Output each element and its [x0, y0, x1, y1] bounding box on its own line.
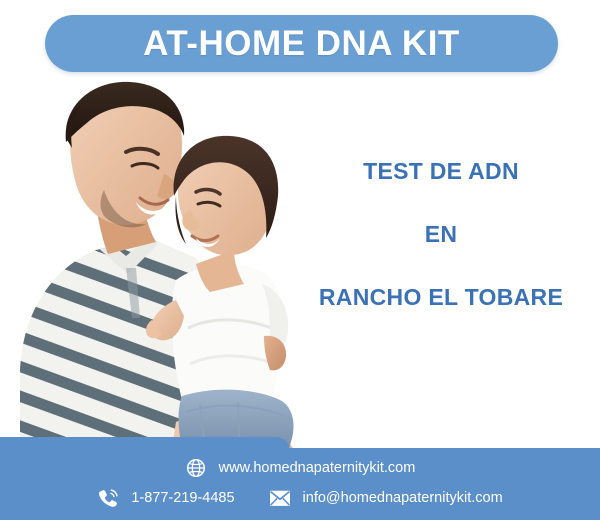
footer-row-phone-email: 1-877-219-4485 info@homednapaternitykit.… — [0, 487, 600, 509]
father-and-child-photo — [0, 78, 318, 460]
envelope-icon — [269, 487, 291, 509]
page-title: AT-HOME DNA KIT — [143, 26, 460, 61]
phone-icon — [97, 487, 119, 509]
hero-photo — [0, 78, 318, 460]
footer-contact-rows: www.homednapaternitykit.com 1-877-219-44… — [0, 437, 600, 520]
headline-block: TEST DE ADN EN RANCHO EL TOBARE — [310, 160, 572, 309]
header-band: AT-HOME DNA KIT — [0, 0, 600, 88]
headline-line-1: TEST DE ADN — [310, 160, 572, 183]
title-pill: AT-HOME DNA KIT — [45, 15, 558, 72]
website-label: www.homednapaternitykit.com — [219, 461, 416, 476]
website-contact[interactable]: www.homednapaternitykit.com — [185, 457, 416, 479]
email-label: info@homednapaternitykit.com — [303, 491, 503, 506]
poster-canvas: AT-HOME DNA KIT — [0, 0, 600, 520]
headline-line-3: RANCHO EL TOBARE — [310, 286, 572, 309]
footer-bar: www.homednapaternitykit.com 1-877-219-44… — [0, 437, 600, 520]
phone-label: 1-877-219-4485 — [131, 491, 234, 506]
globe-icon — [185, 457, 207, 479]
headline-line-2: EN — [310, 223, 572, 246]
footer-row-website: www.homednapaternitykit.com — [0, 457, 600, 479]
phone-contact[interactable]: 1-877-219-4485 — [97, 487, 234, 509]
email-contact[interactable]: info@homednapaternitykit.com — [269, 487, 503, 509]
